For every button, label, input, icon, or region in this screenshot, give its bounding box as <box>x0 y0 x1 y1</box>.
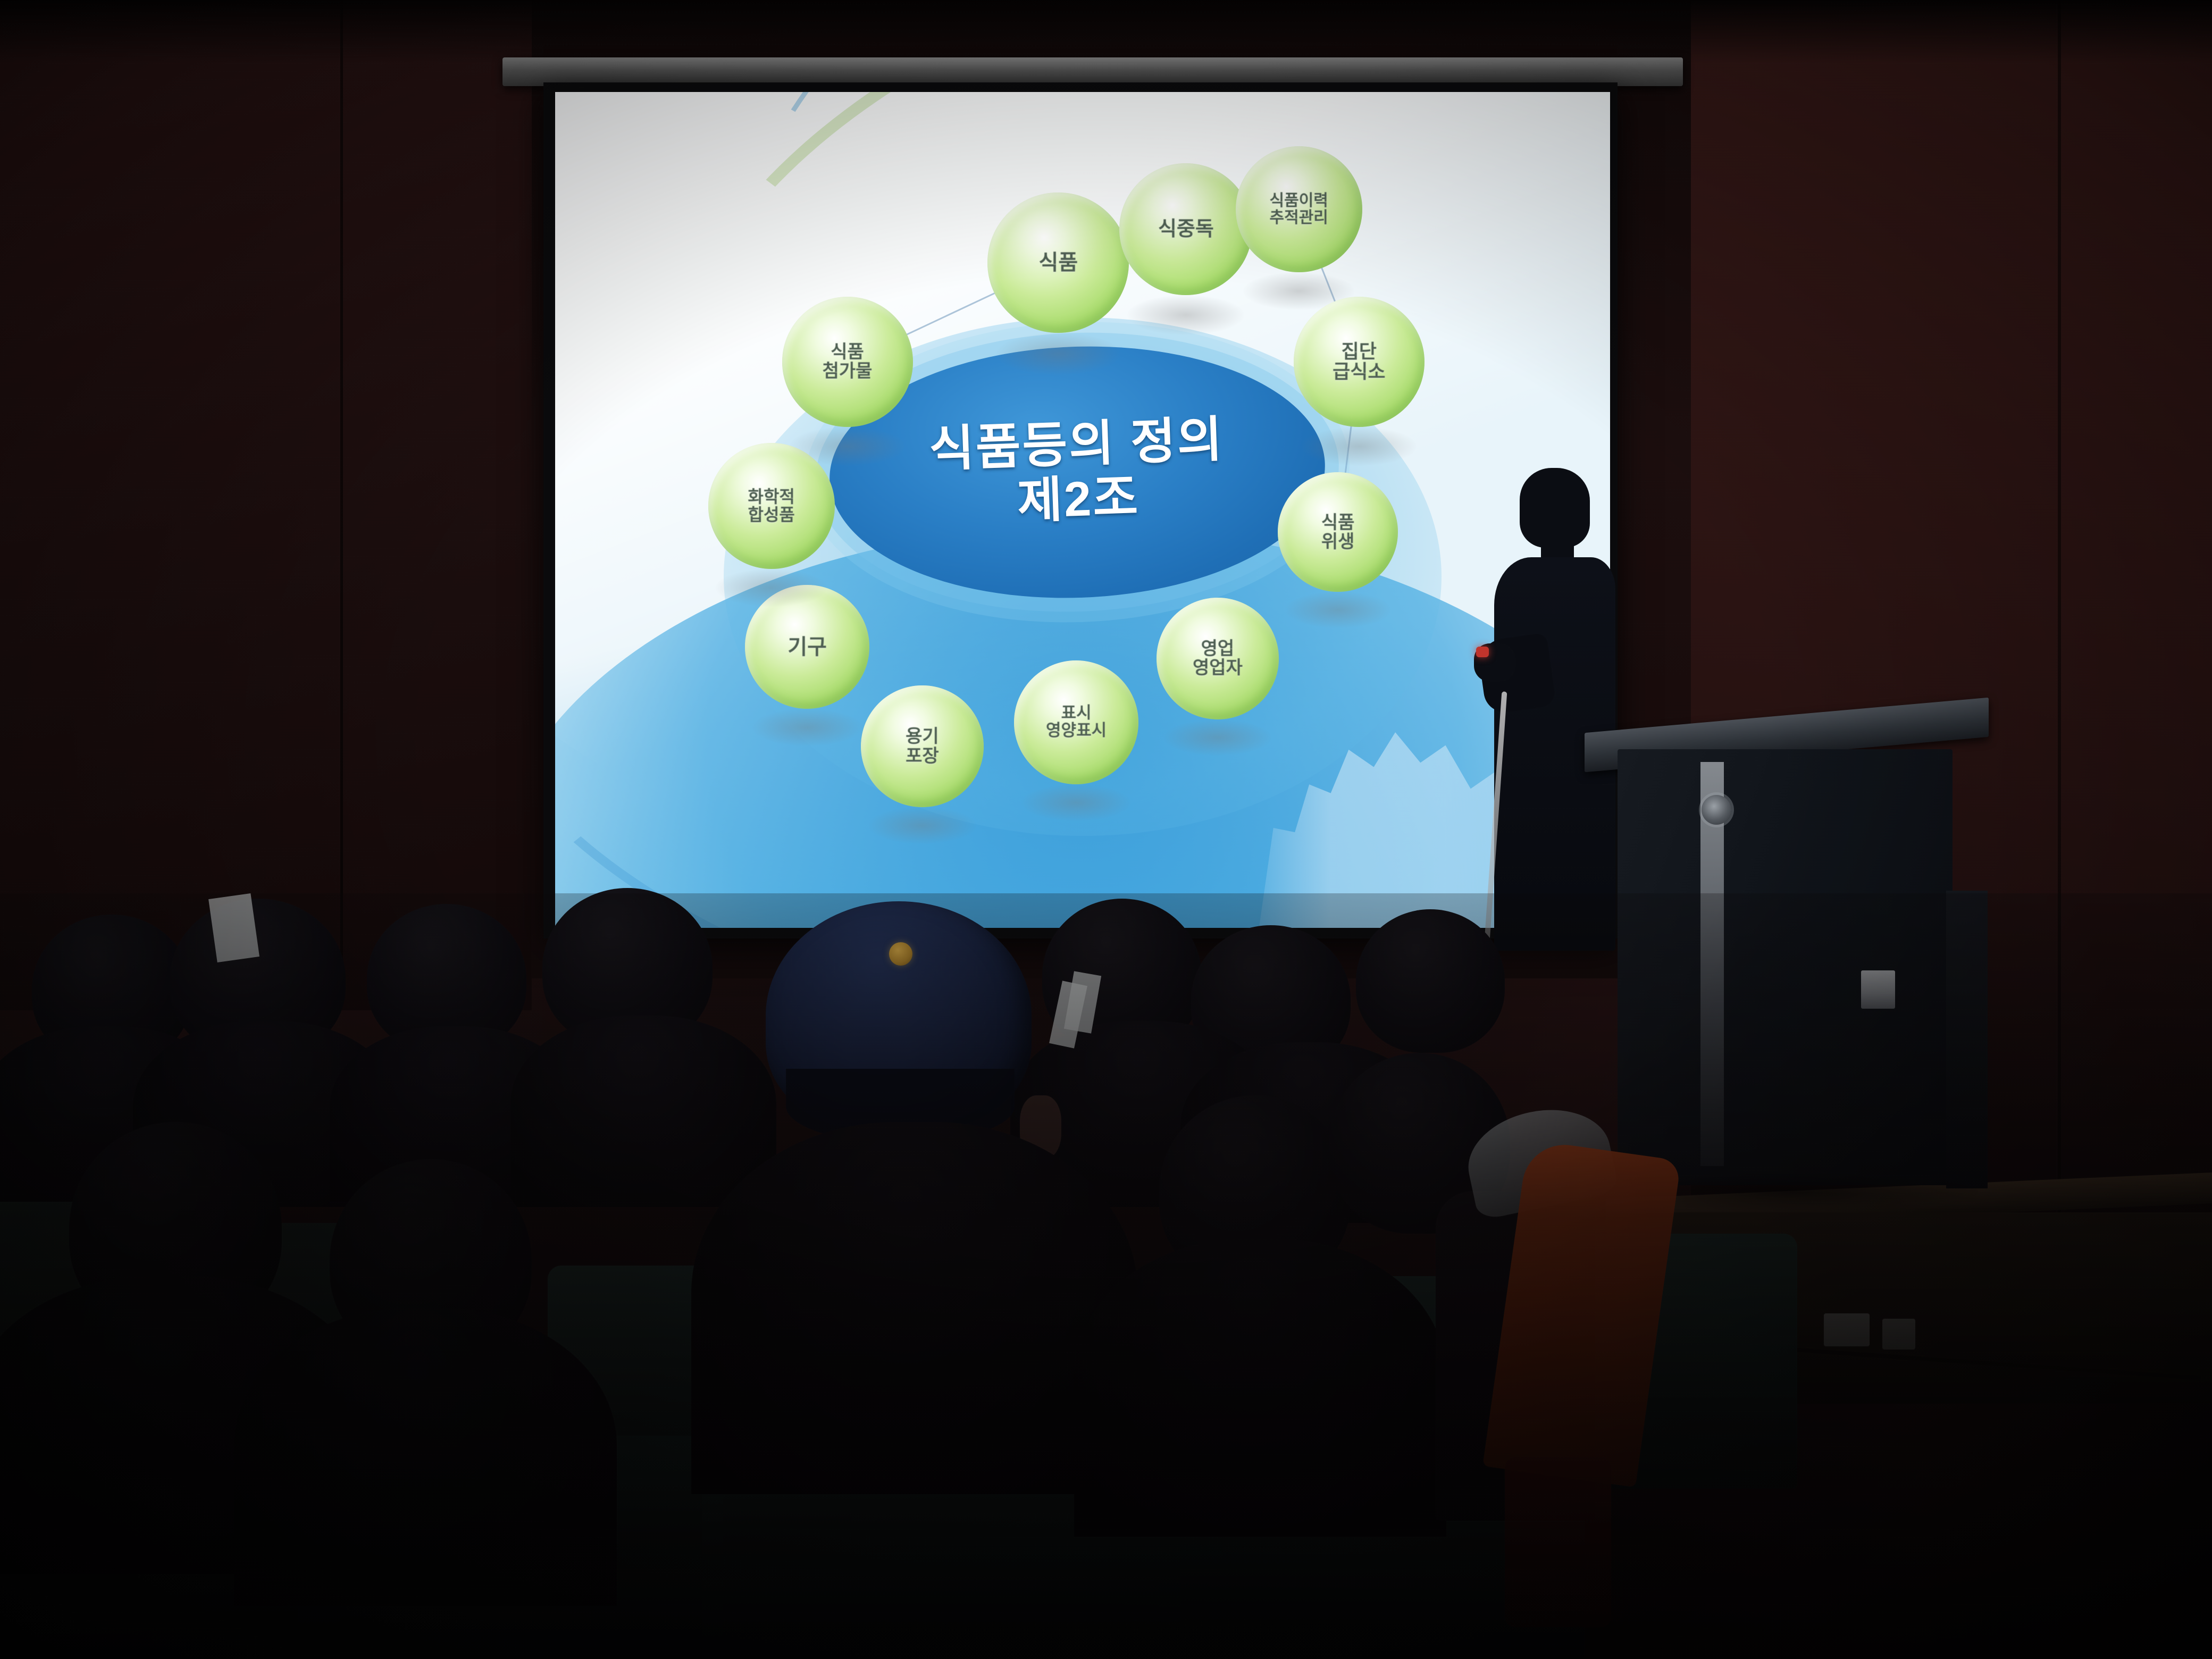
slide-bubble-yonggi: 용기포장 <box>861 685 983 807</box>
slide-bubble-iryeok: 식품이력추적관리 <box>1236 146 1362 272</box>
room-wall-left-panel <box>0 0 532 1010</box>
slide-bubble-label: 식품 <box>831 342 864 362</box>
slide-bubble-label: 식품이력 <box>1270 192 1328 210</box>
slide-bubble-label: 첨가물 <box>823 362 873 381</box>
wall-seam-left <box>340 0 343 989</box>
projector-screen-surface: 식품등의 정의 제2조 식품식중독식품이력추적관리집단급식소식품위생영업영업자표… <box>555 92 1610 928</box>
lectern-knob-icon <box>1702 795 1731 825</box>
slide-bubble-sikpum: 식품 <box>987 192 1129 333</box>
slide-bubble-cheomgamul: 식품첨가물 <box>782 297 913 427</box>
slide-bubble-wisaeng: 식품위생 <box>1278 472 1398 592</box>
audience-darkness-overlay <box>0 893 2212 1659</box>
slide-bubble-label: 위생 <box>1321 532 1355 551</box>
slide-bubble-yeongeop: 영업영업자 <box>1157 598 1279 719</box>
projector-screen-housing <box>502 57 1683 86</box>
laser-pointer-icon <box>1476 647 1489 657</box>
presentation-slide: 식품등의 정의 제2조 식품식중독식품이력추적관리집단급식소식품위생영업영업자표… <box>555 92 1610 928</box>
slide-title-line1: 식품등의 정의 <box>928 413 1225 477</box>
slide-bubble-label: 화학적 <box>748 488 795 506</box>
audience-area <box>0 893 2212 1659</box>
slide-bubble-label: 영업자 <box>1193 658 1243 677</box>
slide-bubble-label: 급식소 <box>1333 362 1385 382</box>
slide-bubble-sikjungdok: 식중독 <box>1119 163 1252 296</box>
ceiling-shadow <box>0 0 2212 64</box>
slide-bubble-jipdan: 집단급식소 <box>1294 297 1425 427</box>
slide-bubble-label: 합성품 <box>748 506 795 524</box>
slide-bubble-label: 영업 <box>1201 639 1235 658</box>
projector-screen-frame: 식품등의 정의 제2조 식품식중독식품이력추적관리집단급식소식품위생영업영업자표… <box>543 82 1618 939</box>
slide-title-line2: 제2조 <box>1016 470 1140 529</box>
slide-bubble-label: 용기 <box>906 727 939 746</box>
slide-bubble-label: 기구 <box>787 636 827 658</box>
slide-bubble-label: 영양표시 <box>1046 722 1107 740</box>
slide-bubble-label: 추적관리 <box>1270 210 1328 227</box>
slide-bubble-label: 식품 <box>1321 513 1355 532</box>
slide-bubble-label: 포장 <box>906 747 939 766</box>
slide-bubble-label: 식중독 <box>1158 219 1214 240</box>
slide-bubble-label: 집단 <box>1342 341 1377 362</box>
slide-bubble-label: 식품 <box>1039 252 1078 274</box>
slide-bubble-pyosi: 표시영양표시 <box>1014 660 1138 784</box>
auditorium-photo-scene: 식품등의 정의 제2조 식품식중독식품이력추적관리집단급식소식품위생영업영업자표… <box>0 0 2212 1659</box>
slide-bubble-label: 표시 <box>1061 705 1092 722</box>
